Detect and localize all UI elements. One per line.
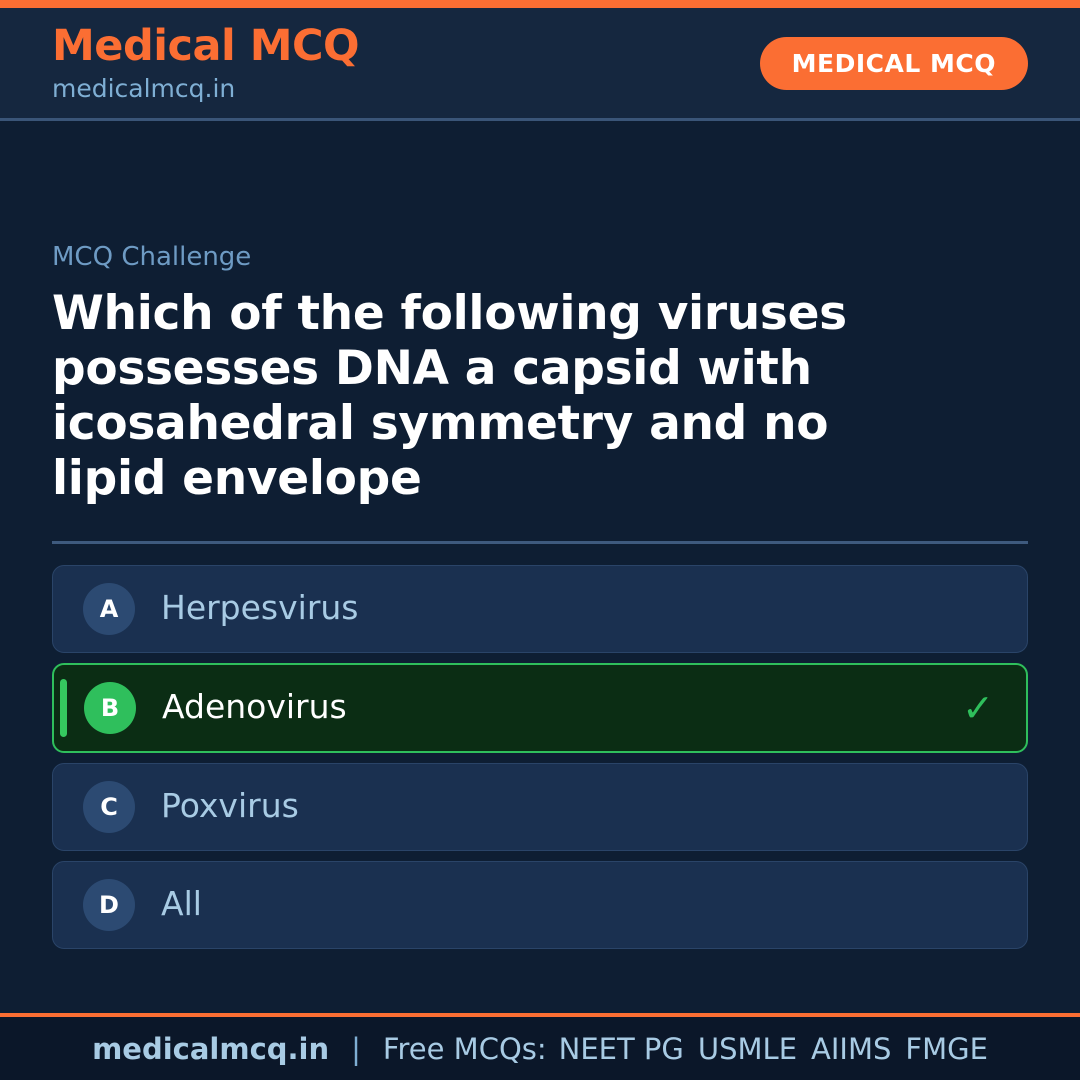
brand-title: Medical MCQ — [52, 24, 359, 69]
bottom-spacer — [52, 949, 1028, 1013]
brand-badge: MEDICAL MCQ — [760, 37, 1028, 90]
option-letter-badge: B — [84, 682, 136, 734]
footer-site-link[interactable]: medicalmcq.in — [92, 1032, 329, 1066]
option-label: Herpesvirus — [161, 590, 959, 626]
top-accent-bar — [0, 0, 1080, 8]
option-letter-badge: A — [83, 583, 135, 635]
footer-label: Free MCQs: — [383, 1032, 547, 1066]
option-d[interactable]: D All ✓ — [52, 861, 1028, 949]
mcq-card: Medical MCQ medicalmcq.in MEDICAL MCQ MC… — [0, 0, 1080, 1080]
selected-accent-bar — [60, 679, 67, 737]
option-c[interactable]: C Poxvirus ✓ — [52, 763, 1028, 851]
option-a[interactable]: A Herpesvirus ✓ — [52, 565, 1028, 653]
header: Medical MCQ medicalmcq.in MEDICAL MCQ — [0, 8, 1080, 121]
main-content: MCQ Challenge Which of the following vir… — [0, 121, 1080, 1013]
top-spacer — [52, 121, 1028, 243]
brand-block: Medical MCQ medicalmcq.in — [52, 24, 359, 102]
option-b[interactable]: B Adenovirus ✓ — [52, 663, 1028, 753]
footer: medicalmcq.in | Free MCQs: NEET PG USMLE… — [0, 1013, 1080, 1080]
option-label: All — [161, 886, 959, 922]
option-letter-badge: C — [83, 781, 135, 833]
check-icon: ✓ — [958, 689, 998, 727]
option-label: Adenovirus — [162, 689, 958, 725]
section-eyebrow: MCQ Challenge — [52, 243, 1028, 272]
brand-subtitle: medicalmcq.in — [52, 76, 359, 102]
options-list: A Herpesvirus ✓ B Adenovirus ✓ C Poxviru… — [52, 565, 1028, 949]
footer-exam-fmge: FMGE — [905, 1032, 988, 1066]
footer-exam-usmle: USMLE — [698, 1032, 797, 1066]
option-letter-badge: D — [83, 879, 135, 931]
footer-exam-neet-pg: NEET PG — [559, 1032, 684, 1066]
question-text: Which of the following viruses possesses… — [52, 286, 952, 506]
footer-exam-aiims: AIIMS — [811, 1032, 891, 1066]
footer-text: medicalmcq.in | Free MCQs: NEET PG USMLE… — [92, 1032, 988, 1066]
footer-separator: | — [351, 1032, 361, 1066]
question-divider — [52, 541, 1028, 544]
option-label: Poxvirus — [161, 788, 959, 824]
